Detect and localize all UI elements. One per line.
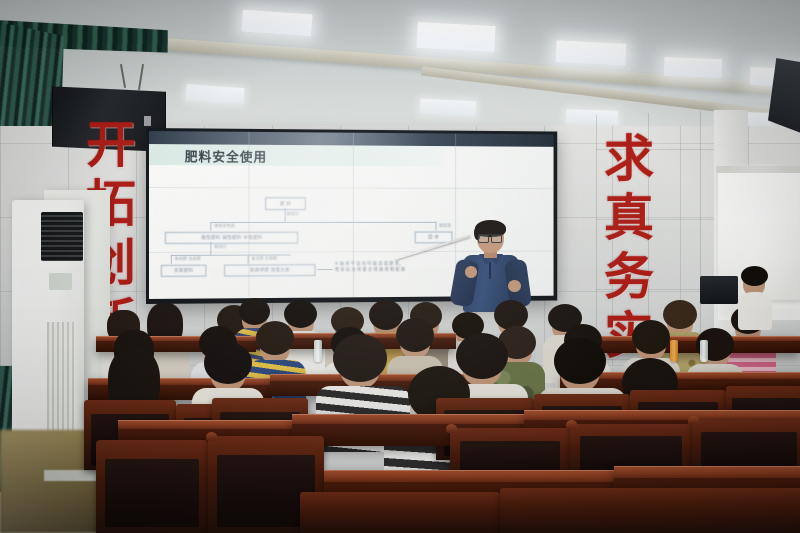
ceiling-light-panel	[664, 57, 723, 78]
presenter-hand-left	[465, 266, 477, 278]
flowchart-connector	[171, 255, 172, 264]
desk-surface	[118, 420, 294, 429]
screen-seam	[149, 187, 554, 189]
flowchart-arrow	[317, 269, 332, 270]
bench-knob	[206, 432, 217, 441]
screen-seam	[353, 133, 354, 298]
flowchart-connector	[210, 242, 211, 255]
attendee-hair-bun	[494, 300, 528, 330]
flowchart-connector	[285, 208, 286, 222]
attendee-hair-bun	[204, 342, 252, 384]
presenter-placket	[489, 262, 491, 279]
water-bottle	[314, 340, 322, 362]
flowchart-level2-sublabel: 按成分	[214, 244, 226, 250]
flowchart-note: ※ 施 用 不 当 均 可 能 造 成 肥 害，需 按 标 准 用 量 合 理 …	[335, 262, 405, 274]
attendee-hair-bun	[333, 334, 387, 382]
bench-back-foreground	[96, 440, 208, 533]
bench-panel	[105, 459, 199, 528]
speaker-badge	[144, 116, 151, 126]
flowchart-level3-label: 有机肥 无机肥	[175, 256, 201, 262]
desk-surface	[324, 470, 624, 482]
attendee-hair-bun	[239, 298, 270, 325]
ceiling-light-panel	[555, 40, 626, 66]
presenter-glasses	[478, 234, 502, 241]
attendee-body	[738, 292, 772, 330]
flowchart-level3-label: 复合肥 生物肥	[251, 255, 277, 261]
attendee-hair-bun	[396, 318, 434, 352]
desk-surface	[292, 414, 528, 424]
flowchart-box-level2: 酸性肥料 碱性肥料 中性肥料	[165, 232, 298, 244]
ac-vent-grille	[41, 212, 83, 261]
attendee-hair-bun	[554, 338, 606, 384]
flowchart-connector	[210, 222, 211, 231]
screen-seam	[249, 132, 250, 298]
bench-knob	[446, 424, 457, 433]
ceiling-light-panel	[420, 99, 477, 117]
flowchart-connector	[210, 222, 435, 223]
presenter	[455, 222, 533, 312]
flowchart-branch-right-label: 按形态	[439, 223, 451, 229]
bench-back-foreground	[500, 488, 800, 533]
attendee-hair-bun	[632, 320, 670, 354]
attendee-hair-bun	[663, 300, 697, 329]
flowchart-box-level3: 农家肥料	[161, 265, 206, 277]
control-monitor	[700, 276, 738, 304]
flowchart-root-sublabel: 按成分	[287, 211, 299, 217]
desk-surface	[614, 466, 800, 478]
attendee-hair-bun	[456, 333, 508, 379]
flowchart-connector	[435, 222, 436, 231]
water-bottle	[700, 340, 708, 362]
flowchart-box-level3: 氮磷钾肥 微量元素	[224, 264, 315, 276]
attendee-hair-bun	[741, 266, 768, 286]
attendee-hair-bun	[284, 300, 317, 328]
bench-back-foreground	[300, 492, 500, 533]
desk-surface	[524, 410, 800, 420]
attendee-hair-bun	[256, 321, 294, 355]
ac-display-panel	[49, 273, 72, 290]
roller-blind-rail	[716, 166, 800, 173]
presenter-hand-right	[508, 280, 521, 292]
bench-knob	[688, 416, 699, 425]
flowchart-branch-left-label: 按化学性质	[214, 223, 235, 229]
ceiling-light-panel	[416, 22, 495, 52]
juice-bottle	[670, 340, 678, 362]
slide-title: 肥料安全使用	[185, 146, 267, 165]
bench-knob	[566, 420, 577, 429]
classroom-photo: 开拓创新 求真务实 肥料安全使用 肥 料 按成分 按化学性质 按形态 酸性肥料 …	[0, 0, 800, 533]
